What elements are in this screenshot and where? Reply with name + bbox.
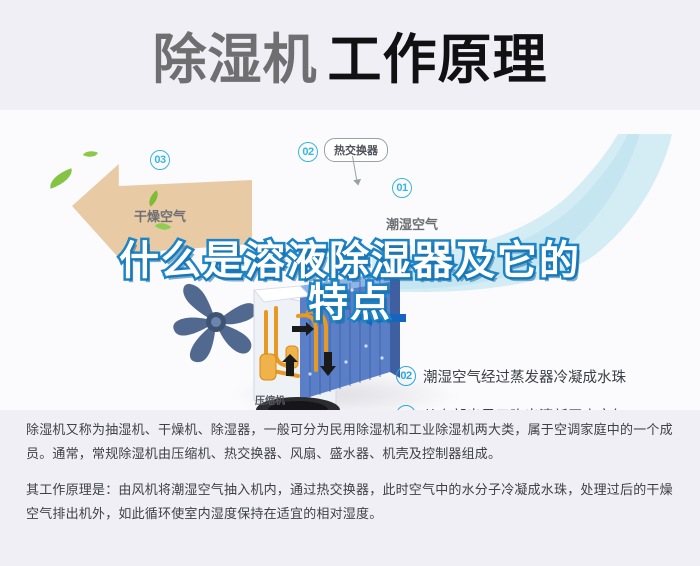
step-text-03: 从上部出风口吹出清新干爽空气 — [423, 405, 626, 411]
callout-label-heat-exchanger: 热交换器 — [324, 138, 388, 162]
page-title-part1: 除湿机 — [153, 33, 318, 87]
infographic-page: 除湿机 工作原理 — [0, 0, 700, 566]
page-title-part2: 工作原理 — [328, 33, 548, 87]
step-item: 03 从上部出风口吹出清新干爽空气 — [396, 404, 626, 410]
step-text-02: 潮湿空气经过蒸发器冷凝成水珠 — [423, 366, 626, 387]
step-badge-02: 02 — [396, 366, 416, 386]
callout-label-compressor: 压缩机 — [255, 392, 285, 407]
diagram-panel: 水箱 03 干燥空气 02 热交换器 01 潮湿空气 压缩机 02 潮湿空气经过… — [0, 110, 700, 410]
air-inlet-arrow-icon — [358, 310, 406, 326]
callout-label-dry-air: 干燥空气 — [134, 206, 186, 225]
step-list: 02 潮湿空气经过蒸发器冷凝成水珠 03 从上部出风口吹出清新干爽空气 — [396, 365, 626, 410]
body-paragraph-1: 除湿机又称为抽湿机、干燥机、除湿器，一般可分为民用除湿机和工业除湿机两大类，属于… — [26, 418, 676, 466]
callout-badge-01: 01 — [392, 178, 412, 198]
header-banner: 除湿机 工作原理 — [0, 0, 700, 120]
callout-badge-02: 02 — [298, 142, 318, 162]
leaf-icon — [83, 148, 98, 160]
page-title: 除湿机 工作原理 — [153, 33, 548, 87]
step-item: 02 潮湿空气经过蒸发器冷凝成水珠 — [396, 365, 626, 387]
callout-label-humid-air: 潮湿空气 — [386, 214, 438, 233]
callout-badge-03: 03 — [150, 150, 170, 170]
body-copy: 除湿机又称为抽湿机、干燥机、除湿器，一般可分为民用除湿机和工业除湿机两大类，属于… — [26, 418, 676, 538]
leaf-icon — [47, 168, 76, 188]
step-badge-03: 03 — [396, 405, 416, 410]
body-paragraph-2: 其工作原理是：由风机将潮湿空气抽入机内，通过热交换器，此时空气中的水分子冷凝成水… — [26, 478, 676, 526]
